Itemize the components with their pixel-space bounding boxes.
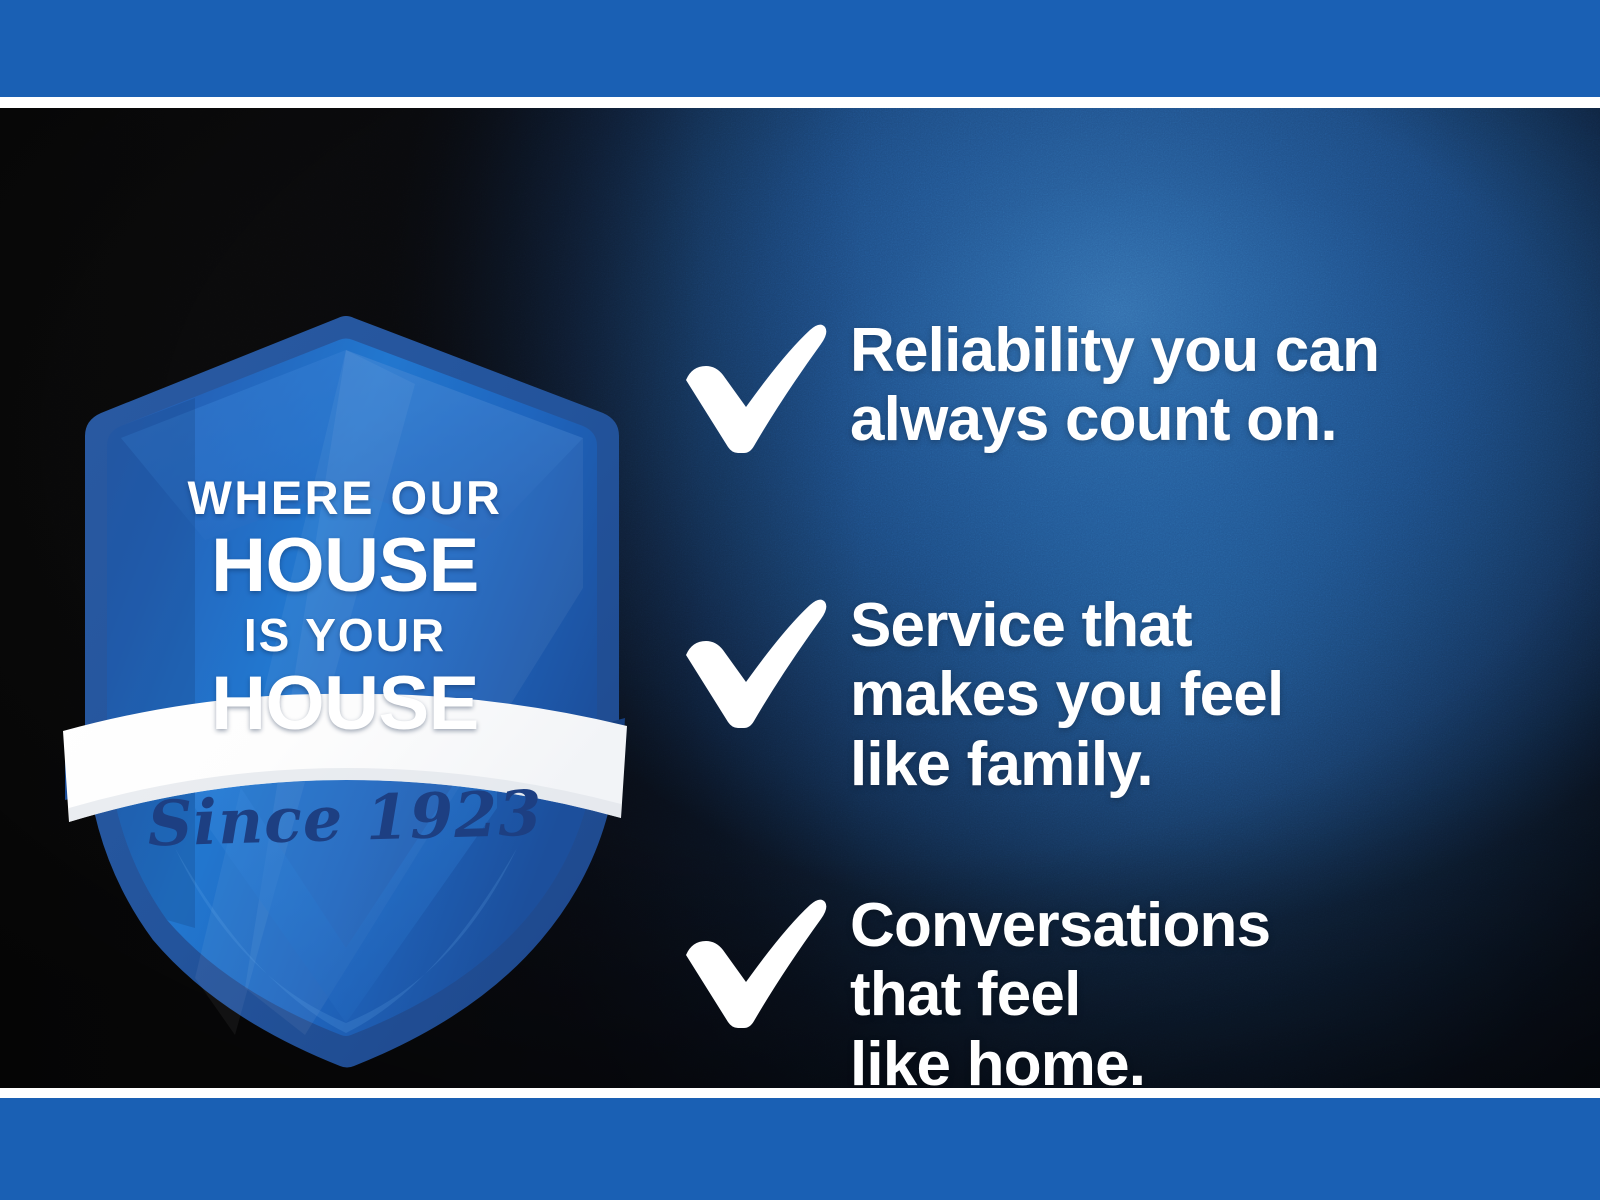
check-icon	[682, 897, 828, 1029]
list-item-line: Service that	[850, 591, 1540, 660]
promo-graphic: WHERE OUR HOUSE IS YOUR HOUSE Since 1923…	[0, 0, 1600, 1200]
badge-line-2: HOUSE	[55, 528, 635, 604]
list-item-line: Conversations	[850, 891, 1540, 960]
badge-line-3: IS YOUR	[55, 612, 635, 658]
list-item-text: Reliability you can always count on.	[850, 316, 1540, 455]
list-item-line: makes you feel	[850, 660, 1540, 729]
list-item-line: Reliability you can	[850, 316, 1540, 385]
list-item-text: Conversations that feel like home.	[850, 891, 1540, 1088]
main-stage: WHERE OUR HOUSE IS YOUR HOUSE Since 1923…	[0, 108, 1600, 1088]
list-item-line: that feel	[850, 960, 1540, 1029]
badge-line-1: WHERE OUR	[55, 474, 635, 521]
shield-badge: WHERE OUR HOUSE IS YOUR HOUSE Since 1923	[55, 288, 635, 1078]
top-brand-bar	[0, 0, 1600, 97]
check-icon	[682, 597, 828, 729]
list-item-line: always count on.	[850, 385, 1540, 454]
badge-line-4: HOUSE	[55, 666, 635, 742]
check-icon	[682, 322, 828, 454]
list-item-line: like family.	[850, 730, 1540, 799]
list-item-line: like home.	[850, 1030, 1540, 1088]
bottom-brand-bar	[0, 1098, 1600, 1200]
list-item-text: Service that makes you feel like family.	[850, 591, 1540, 799]
benefits-list: Reliability you can always count on. Ser…	[668, 216, 1548, 1088]
